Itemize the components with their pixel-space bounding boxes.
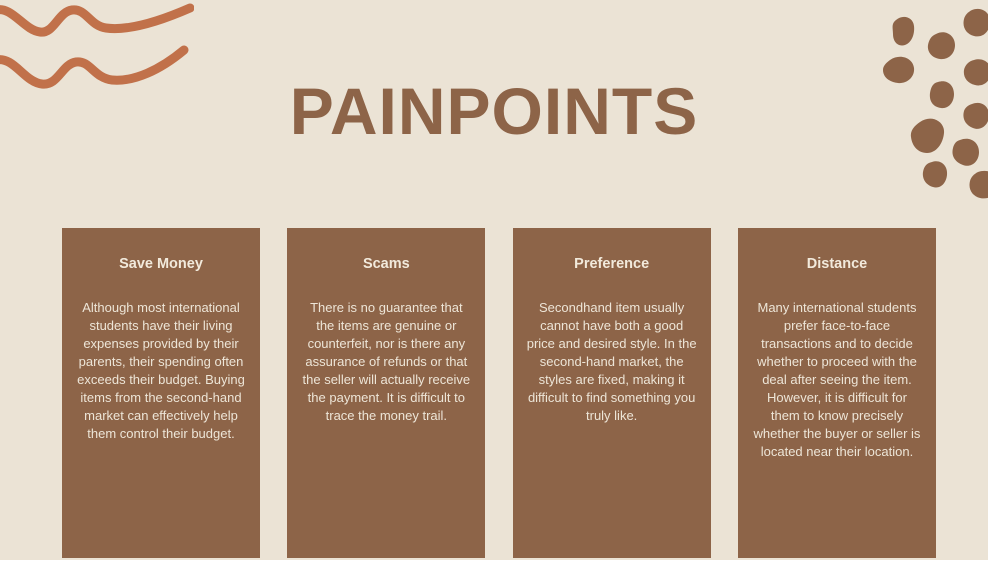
- card-body: Many international students prefer face-…: [752, 299, 922, 460]
- painpoint-card-scams[interactable]: Scams There is no guarantee that the ite…: [287, 228, 485, 558]
- painpoint-card-save-money[interactable]: Save Money Although most international s…: [62, 228, 260, 558]
- card-body: Secondhand item usually cannot have both…: [527, 299, 697, 425]
- painpoint-card-preference[interactable]: Preference Secondhand item usually canno…: [513, 228, 711, 558]
- card-body: Although most international students hav…: [76, 299, 246, 443]
- card-title: Preference: [527, 256, 697, 273]
- card-title: Distance: [752, 256, 922, 273]
- slide-canvas: PAINPOINTS Save Money Although most inte…: [0, 0, 988, 560]
- card-title: Scams: [301, 256, 471, 273]
- painpoint-card-distance[interactable]: Distance Many international students pre…: [738, 228, 936, 558]
- card-body: There is no guarantee that the items are…: [301, 299, 471, 425]
- card-title: Save Money: [76, 256, 246, 273]
- page-title: PAINPOINTS: [0, 78, 988, 144]
- painpoint-card-row: Save Money Although most international s…: [62, 228, 936, 558]
